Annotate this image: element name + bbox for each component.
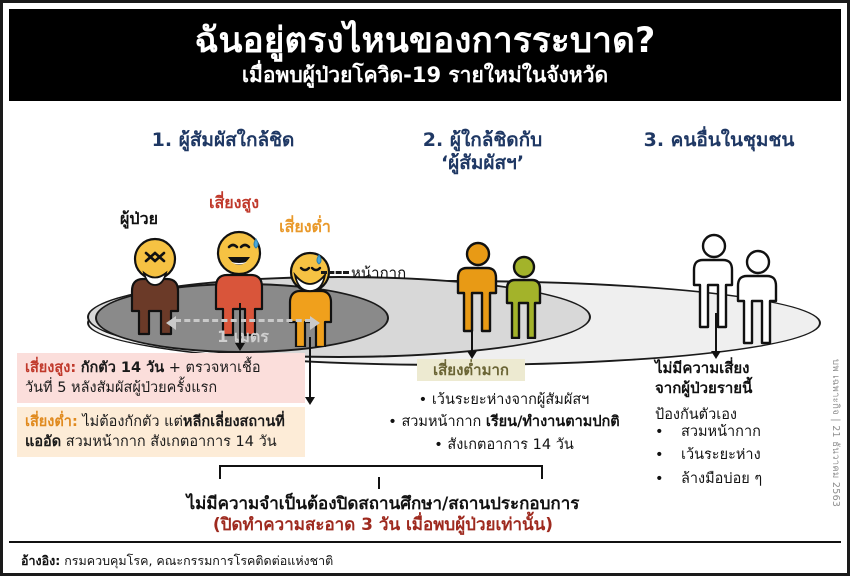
info-box-low-risk-line1: เสี่ยงต่ำ: ไม่ต้องกักตัว แต่หลีกเลี่ยงสถ… (25, 412, 297, 432)
connector-very-low-risk (471, 311, 473, 353)
connector-high-risk (239, 303, 241, 345)
bullet-icon: • (434, 437, 443, 453)
group-heading-1: 1. ผู้สัมผัสใกล้ชิด (83, 129, 363, 152)
person-figure-community-1 (691, 233, 737, 329)
source-reference: อ้างอิง: กรมควบคุมโรค, คณะกรรมการโรคติดต… (21, 551, 333, 571)
connector-arrow-high-risk (235, 343, 245, 351)
group-heading-2-line2: ‘ผู้สัมผัสฯ’ (375, 152, 590, 175)
info-box-low-risk: เสี่ยงต่ำ: ไม่ต้องกักตัว แต่หลีกเลี่ยงสถ… (17, 407, 305, 457)
list-item-text: สังเกตอาการ 14 วัน (447, 437, 573, 453)
header-banner: ฉันอยู่ตรงไหนของการระบาด? เมื่อพบผู้ป่วย… (9, 9, 841, 101)
info-low-bold: หลีกเลี่ยงสถานที่ (183, 414, 285, 430)
connector-arrow-no-risk (711, 351, 721, 359)
list-item-text: เว้นระยะห่างจากผู้สัมผัสฯ (432, 392, 589, 408)
summary-bracket-stem (378, 477, 380, 489)
connector-arrow-low-risk (305, 397, 315, 405)
connector-low-risk (309, 337, 311, 399)
list-item-text-bold: เรียน/ทำงานตามปกติ (486, 414, 620, 430)
list-item-text: เว้นระยะห่าง (681, 444, 761, 467)
group-heading-2-line1: 2. ผู้ใกล้ชิดกับ (375, 129, 590, 152)
bottom-statement-line2: (ปิดทำความสะอาด 3 วัน เมื่อพบผู้ป่วยเท่า… (123, 511, 643, 538)
vertical-credit: บพ เฉพาะกิจ | 21 ธันวาคม 2563 (828, 359, 843, 507)
info-low-bold2: แออัด (25, 434, 61, 450)
info-high-rest: + ตรวจหาเชื้อ (164, 360, 260, 376)
bullet-icon: • (419, 392, 428, 408)
badge-very-low-risk: เสี่ยงต่ำมาก (417, 359, 525, 381)
person-label-patient: ผู้ป่วย (99, 207, 179, 232)
bullet-icon: • (655, 468, 681, 491)
person-figure-community-2 (735, 249, 781, 345)
list-item: • ล้างมือบ่อย ๆ (655, 468, 835, 491)
group-heading-3: 3. คนอื่นในชุมชน (599, 129, 839, 152)
list-item: • สังเกตอาการ 14 วัน (359, 434, 649, 456)
person-figure-contact-green (503, 255, 545, 339)
info-low-normal: ไม่ต้องกักตัว แต่ (78, 414, 183, 430)
group-heading-2: 2. ผู้ใกล้ชิดกับ ‘ผู้สัมผัสฯ’ (375, 129, 590, 175)
person-figure-contact-orange (455, 241, 501, 333)
list-item: • เว้นระยะห่าง (655, 444, 835, 467)
page-subtitle: เมื่อพบผู้ป่วยโควิด-19 รายใหม่ในจังหวัด (242, 64, 608, 87)
source-text: กรมควบคุมโรค, คณะกรรมการโรคติดต่อแห่งชาต… (60, 553, 333, 568)
no-risk-title-line1: ไม่มีความเสี่ยง (655, 359, 825, 379)
info-box-high-risk-line1: เสี่ยงสูง: กักตัว 14 วัน + ตรวจหาเชื้อ (25, 358, 297, 378)
footer-divider (9, 541, 841, 543)
bullet-icon: • (655, 444, 681, 467)
source-label: อ้างอิง: (21, 553, 60, 568)
very-low-risk-list: • เว้นระยะห่างจากผู้สัมผัสฯ • สวมหน้ากาก… (359, 389, 649, 456)
list-item-text: สวมหน้ากาก (401, 414, 485, 430)
bullet-icon: • (655, 421, 681, 444)
info-box-high-risk-line2: วันที่ 5 หลังสัมผัสผู้ป่วยครั้งแรก (25, 378, 297, 398)
list-item: • สวมหน้ากาก (655, 421, 835, 444)
info-box-high-risk: เสี่ยงสูง: กักตัว 14 วัน + ตรวจหาเชื้อ ว… (17, 353, 305, 403)
mask-callout-line (321, 271, 349, 274)
list-item: • สวมหน้ากาก เรียน/ทำงานตามปกติ (359, 411, 649, 433)
person-label-high-risk: เสี่ยงสูง (189, 191, 279, 216)
info-box-low-risk-line2: แออัด สวมหน้ากาก สังเกตอาการ 14 วัน (25, 432, 297, 452)
tag-low-risk: เสี่ยงต่ำ: (25, 414, 78, 430)
no-risk-title: ไม่มีความเสี่ยง จากผู้ป่วยรายนี้ (655, 359, 825, 398)
list-item-text: สวมหน้ากาก (681, 421, 761, 444)
page-title: ฉันอยู่ตรงไหนของการระบาด? (194, 23, 655, 60)
bullet-icon: • (388, 414, 397, 430)
distance-arrow-icon (175, 319, 311, 324)
list-item: • เว้นระยะห่างจากผู้สัมผัสฯ (359, 389, 649, 411)
infographic-poster: ฉันอยู่ตรงไหนของการระบาด? เมื่อพบผู้ป่วย… (0, 0, 850, 576)
self-protection-list: • สวมหน้ากาก • เว้นระยะห่าง • ล้างมือบ่อ… (655, 421, 835, 491)
person-label-low-risk: เสี่ยงต่ำ (265, 215, 345, 240)
no-risk-title-line2: จากผู้ป่วยรายนี้ (655, 379, 825, 399)
connector-no-risk (715, 313, 717, 353)
summary-bracket (219, 465, 543, 479)
tag-high-risk: เสี่ยงสูง: (25, 360, 76, 376)
info-high-bold: กักตัว 14 วัน (81, 360, 164, 376)
list-item-text: ล้างมือบ่อย ๆ (681, 468, 762, 491)
info-low-rest: สวมหน้ากาก สังเกตอาการ 14 วัน (61, 434, 276, 450)
mask-callout-label: หน้ากาก (351, 261, 406, 285)
